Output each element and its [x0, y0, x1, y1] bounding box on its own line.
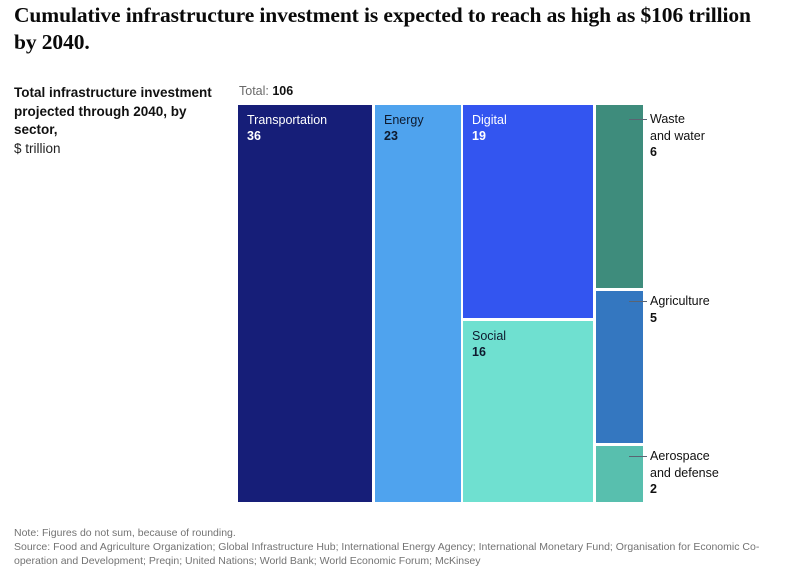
treemap-cell-value: 36	[247, 128, 327, 144]
treemap-chart: Transportation 36 Energy 23 Digital 19 S…	[238, 105, 643, 502]
treemap-cell-value: 23	[384, 128, 424, 144]
chart-subtitle-main: Total infrastructure investment projecte…	[14, 84, 226, 140]
treemap-cell-label: Social 16	[472, 328, 506, 360]
treemap-callout-aerospace-and-defense: Aerospaceand defense 2	[650, 448, 719, 498]
treemap-callout-name: Aerospaceand defense	[650, 448, 719, 481]
treemap-cell-name: Transportation	[247, 112, 327, 128]
chart-page: Cumulative infrastructure investment is …	[0, 0, 800, 575]
treemap-callout-value: 6	[650, 144, 705, 161]
chart-subtitle-unit: $ trillion	[14, 140, 226, 159]
footnote-note: Note: Figures do not sum, because of rou…	[14, 526, 794, 540]
treemap-cell-waste-and-water[interactable]	[596, 105, 643, 288]
treemap-callout-value: 5	[650, 310, 710, 327]
treemap-cell-label: Energy 23	[384, 112, 424, 144]
treemap-cell-value: 16	[472, 344, 506, 360]
treemap-callout-name: Agriculture	[650, 293, 710, 310]
chart-subtitle: Total infrastructure investment projecte…	[14, 84, 226, 158]
treemap-cell-social[interactable]: Social 16	[463, 321, 593, 502]
treemap-cell-name: Social	[472, 328, 506, 344]
treemap-cell-name: Digital	[472, 112, 507, 128]
treemap-callout-agriculture: Agriculture 5	[650, 293, 710, 326]
treemap-cell-agriculture[interactable]	[596, 291, 643, 443]
treemap-cell-energy[interactable]: Energy 23	[375, 105, 461, 502]
leader-line-waste-and-water	[629, 119, 647, 120]
treemap-callout-name: Wasteand water	[650, 111, 705, 144]
treemap-cell-name: Energy	[384, 112, 424, 128]
footnote-source: Source: Food and Agriculture Organizatio…	[14, 540, 794, 568]
total-label: Total: 106	[239, 84, 293, 98]
treemap-callout-value: 2	[650, 481, 719, 498]
treemap-callout-waste-and-water: Wasteand water 6	[650, 111, 705, 161]
leader-line-agriculture	[629, 301, 647, 302]
treemap-cell-transportation[interactable]: Transportation 36	[238, 105, 372, 502]
treemap-cell-label: Digital 19	[472, 112, 507, 144]
treemap-cell-value: 19	[472, 128, 507, 144]
total-label-prefix: Total:	[239, 84, 272, 98]
treemap-cell-digital[interactable]: Digital 19	[463, 105, 593, 318]
footnotes: Note: Figures do not sum, because of rou…	[14, 526, 794, 568]
treemap-cell-label: Transportation 36	[247, 112, 327, 144]
treemap-cell-aerospace-and-defense[interactable]	[596, 446, 643, 502]
leader-line-aerospace-and-defense	[629, 456, 647, 457]
total-label-value: 106	[272, 84, 293, 98]
page-title: Cumulative infrastructure investment is …	[14, 2, 754, 56]
